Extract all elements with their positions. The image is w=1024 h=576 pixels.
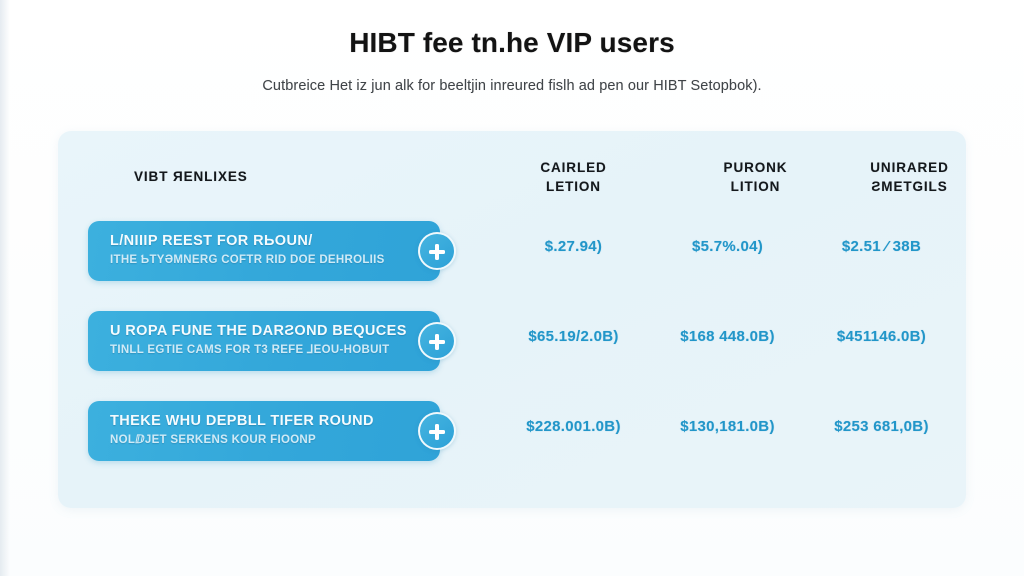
benefit-pill-2-title: U ROPA FUNE THE DARƧOND BEQUCES	[110, 322, 420, 340]
plus-icon-row-1[interactable]	[418, 232, 456, 270]
benefit-pill-3-title: THEKE WHU DEPBLL TIFER ROUND	[110, 412, 420, 430]
table-row: L/NIIIP REEST FOR RЬOUN/ ITHE ƄTYƏMNERG …	[58, 209, 966, 299]
column-header-unirared-emetgils-line1: UNIRARED	[870, 160, 948, 175]
benefits-table-card: VIBT ЯENLIXES CAIRLED LETION PURONK LITI…	[58, 131, 966, 508]
column-header-unirared-emetgils-line2: ƧMETGILS	[802, 177, 1017, 196]
benefit-pill-1-subtitle: ITHE ƄTYƏMNERG COFTR RID DOE DEHROLIIS	[110, 252, 428, 268]
benefit-pill-3-background[interactable]: THEKE WHU DEPBLL TIFER ROUND NOLⅅJET SER…	[88, 401, 440, 461]
benefit-pill-3[interactable]: THEKE WHU DEPBLL TIFER ROUND NOLⅅJET SER…	[88, 401, 470, 461]
page-header: HIBT fee tn.he VIP users Cutbreice Het i…	[0, 26, 1024, 96]
column-header-cairled-letion-line1: CAIRLED	[540, 160, 606, 175]
benefit-pill-1[interactable]: L/NIIIP REEST FOR RЬOUN/ ITHE ƄTYƏMNERG …	[88, 221, 470, 281]
table-header-row: VIBT ЯENLIXES CAIRLED LETION PURONK LITI…	[58, 131, 966, 209]
benefit-pill-1-title: L/NIIIP REEST FOR RЬOUN/	[110, 232, 420, 250]
column-header-benefits: VIBT ЯENLIXES	[134, 167, 454, 186]
plus-icon-row-3[interactable]	[418, 412, 456, 450]
plus-icon-row-2[interactable]	[418, 322, 456, 360]
table-row: U ROPA FUNE THE DARƧOND BEQUCES TINLL EG…	[58, 299, 966, 389]
column-header-unirared-emetgils: UNIRARED ƧMETGILS	[802, 158, 1017, 196]
page-subtitle: Cutbreice Het iz jun alk for beeltjin in…	[0, 76, 1024, 96]
page-title: HIBT fee tn.he VIP users	[0, 26, 1024, 60]
benefit-pill-1-background[interactable]: L/NIIIP REEST FOR RЬOUN/ ITHE ƄTYƏMNERG …	[88, 221, 440, 281]
plus-icon-vertical-bar	[435, 424, 439, 440]
plus-icon-vertical-bar	[435, 334, 439, 350]
plus-icon-vertical-bar	[435, 244, 439, 260]
page-root: HIBT fee tn.he VIP users Cutbreice Het i…	[0, 0, 1024, 576]
column-header-puronk-lition-line1: PURONK	[724, 160, 788, 175]
table-row: THEKE WHU DEPBLL TIFER ROUND NOLⅅJET SER…	[58, 389, 966, 479]
benefit-pill-2[interactable]: U ROPA FUNE THE DARƧOND BEQUCES TINLL EG…	[88, 311, 470, 371]
row-3-value-unirared-emetgils: $253 681,0B)	[774, 417, 989, 437]
benefit-pill-2-subtitle: TINLL EGTIE CAMS FOR T3 REFE ⅃EOU-HOBUIT	[110, 342, 428, 358]
benefit-pill-3-subtitle: NOLⅅJET SERKENS KOUR FIOONP	[110, 432, 428, 448]
row-1-value-unirared-emetgils: $2.51 ⁄ 38B	[774, 237, 989, 257]
column-header-benefits-line1: VIBT ЯENLIXES	[134, 169, 248, 184]
table-body: L/NIIIP REEST FOR RЬOUN/ ITHE ƄTYƏMNERG …	[58, 209, 966, 479]
row-2-value-unirared-emetgils: $451146.0B)	[774, 327, 989, 347]
benefit-pill-2-background[interactable]: U ROPA FUNE THE DARƧOND BEQUCES TINLL EG…	[88, 311, 440, 371]
